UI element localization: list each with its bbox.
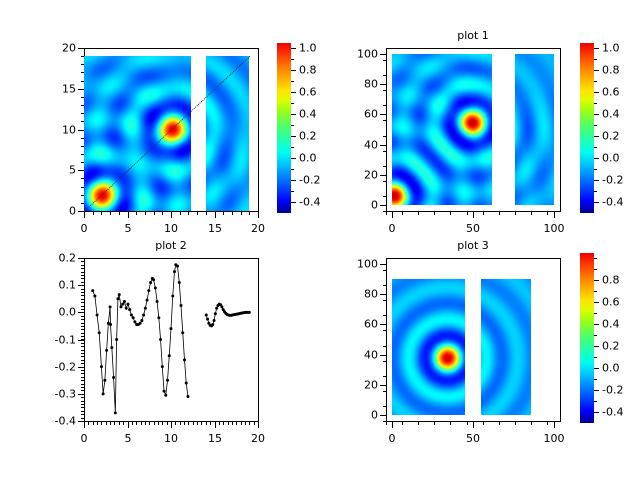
plot-bottom-right-xtick-minor bbox=[515, 422, 516, 425]
plot-bottom-right-colorbar-tick-minor bbox=[594, 269, 597, 270]
plot-bottom-right-ytick bbox=[380, 324, 386, 325]
plot-bottom-right-yticklabel: 40 bbox=[340, 350, 378, 361]
plot-bottom-right-colorbar-tick-minor bbox=[594, 291, 597, 292]
plot-bottom-right-colorbar-ticklabel: -0.4 bbox=[602, 407, 623, 418]
plot-bottom-right-xtick-minor bbox=[467, 422, 468, 425]
plot-bottom-right-ytick-minor bbox=[383, 315, 386, 316]
plot-bottom-right-xtick bbox=[554, 422, 555, 428]
plot-bottom-right-colorbar-ticklabel: 0.4 bbox=[602, 319, 620, 330]
plot-bottom-right-yticklabel: 60 bbox=[340, 319, 378, 330]
plot-bottom-right-colorbar-ticklabel: 0.8 bbox=[602, 275, 620, 286]
plot-bottom-right-image-left-canvas bbox=[392, 279, 465, 415]
plot-bottom-right-ytick-minor bbox=[383, 285, 386, 286]
plot-bottom-right-colorbar-ticklabel: 0.6 bbox=[602, 297, 620, 308]
plot-bottom-right-colorbar bbox=[580, 253, 594, 423]
plot-bottom-right-image-right-canvas bbox=[481, 279, 531, 415]
plot-bottom-right-yticklabel: 80 bbox=[340, 289, 378, 300]
plot-bottom-right-ytick bbox=[380, 415, 386, 416]
plot-bottom-right-colorbar-tick-minor bbox=[594, 313, 597, 314]
plot-bottom-right-title: plot 3 bbox=[457, 240, 489, 251]
plot-bottom-right: 020406080100050100plot 30.80.60.40.20.0-… bbox=[0, 0, 640, 480]
plot-bottom-right-colorbar-ticklabel: -0.2 bbox=[602, 385, 623, 396]
plot-bottom-right-xticklabel: 100 bbox=[544, 433, 565, 444]
plot-bottom-right-colorbar-tick-minor bbox=[594, 335, 597, 336]
plot-bottom-right-ytick-minor bbox=[383, 376, 386, 377]
plot-bottom-right-yticklabel: 20 bbox=[340, 380, 378, 391]
plot-bottom-right-colorbar-tick-minor bbox=[594, 379, 597, 380]
plot-bottom-right-xtick-minor bbox=[450, 422, 451, 425]
plot-bottom-right-xtick bbox=[473, 422, 474, 428]
plot-bottom-right-xtick-minor bbox=[434, 422, 435, 425]
plot-bottom-right-ytick-minor bbox=[383, 391, 386, 392]
plot-bottom-right-yticklabel: 100 bbox=[340, 259, 378, 270]
plot-bottom-right-colorbar-tick-minor bbox=[594, 401, 597, 402]
plot-bottom-right-colorbar-tick-minor bbox=[594, 357, 597, 358]
plot-bottom-right-yticklabel: 0 bbox=[340, 410, 378, 421]
plot-bottom-right-xtick-minor bbox=[547, 422, 548, 425]
plot-bottom-right-colorbar-tick-minor bbox=[594, 412, 597, 413]
plot-bottom-right-colorbar-tick-minor bbox=[594, 280, 597, 281]
plot-bottom-right-xtick bbox=[392, 422, 393, 428]
plot-bottom-right-spine-left bbox=[386, 258, 387, 422]
plot-bottom-right-ytick bbox=[380, 294, 386, 295]
plot-bottom-right-ytick-minor bbox=[383, 300, 386, 301]
plot-bottom-right-image-right bbox=[481, 279, 531, 415]
plot-bottom-right-ytick-minor bbox=[383, 361, 386, 362]
plot-bottom-right-colorbar-tick-minor bbox=[594, 390, 597, 391]
plot-bottom-right-xtick-minor bbox=[386, 422, 387, 425]
plot-bottom-right-spine-right bbox=[560, 258, 561, 422]
plot-bottom-right-xtick-minor bbox=[499, 422, 500, 425]
plot-bottom-right-xtick-minor bbox=[402, 422, 403, 425]
plot-bottom-right-ytick-minor bbox=[383, 346, 386, 347]
figure-canvas: 05101520051015201.00.80.60.40.20.0-0.2-0… bbox=[0, 0, 640, 480]
plot-bottom-right-ytick-minor bbox=[383, 270, 386, 271]
plot-bottom-right-xtick-minor bbox=[531, 422, 532, 425]
plot-bottom-right-xticklabel: 50 bbox=[466, 433, 480, 444]
plot-bottom-right-xtick-minor bbox=[483, 422, 484, 425]
plot-bottom-right-ytick bbox=[380, 385, 386, 386]
plot-bottom-right-ytick-minor bbox=[383, 330, 386, 331]
plot-bottom-right-spine-top bbox=[386, 258, 561, 259]
plot-bottom-right-colorbar-tick-minor bbox=[594, 302, 597, 303]
plot-bottom-right-ytick bbox=[380, 264, 386, 265]
plot-bottom-right-colorbar-ticklabel: 0.0 bbox=[602, 363, 620, 374]
plot-bottom-right-ytick bbox=[380, 355, 386, 356]
plot-bottom-right-xticklabel: 0 bbox=[389, 433, 396, 444]
plot-bottom-right-image-left bbox=[392, 279, 465, 415]
plot-bottom-right-colorbar-ticklabel: 0.2 bbox=[602, 341, 620, 352]
plot-bottom-right-colorbar-tick-minor bbox=[594, 368, 597, 369]
plot-bottom-right-xtick-minor bbox=[418, 422, 419, 425]
plot-bottom-right-colorbar-tick-minor bbox=[594, 346, 597, 347]
plot-bottom-right-ytick-minor bbox=[383, 421, 386, 422]
plot-bottom-right-colorbar-tick-minor bbox=[594, 324, 597, 325]
plot-bottom-right-ytick-minor bbox=[383, 406, 386, 407]
plot-bottom-right-colorbar-tick-minor bbox=[594, 258, 597, 259]
plot-bottom-right-colorbar-gradient bbox=[580, 253, 594, 423]
